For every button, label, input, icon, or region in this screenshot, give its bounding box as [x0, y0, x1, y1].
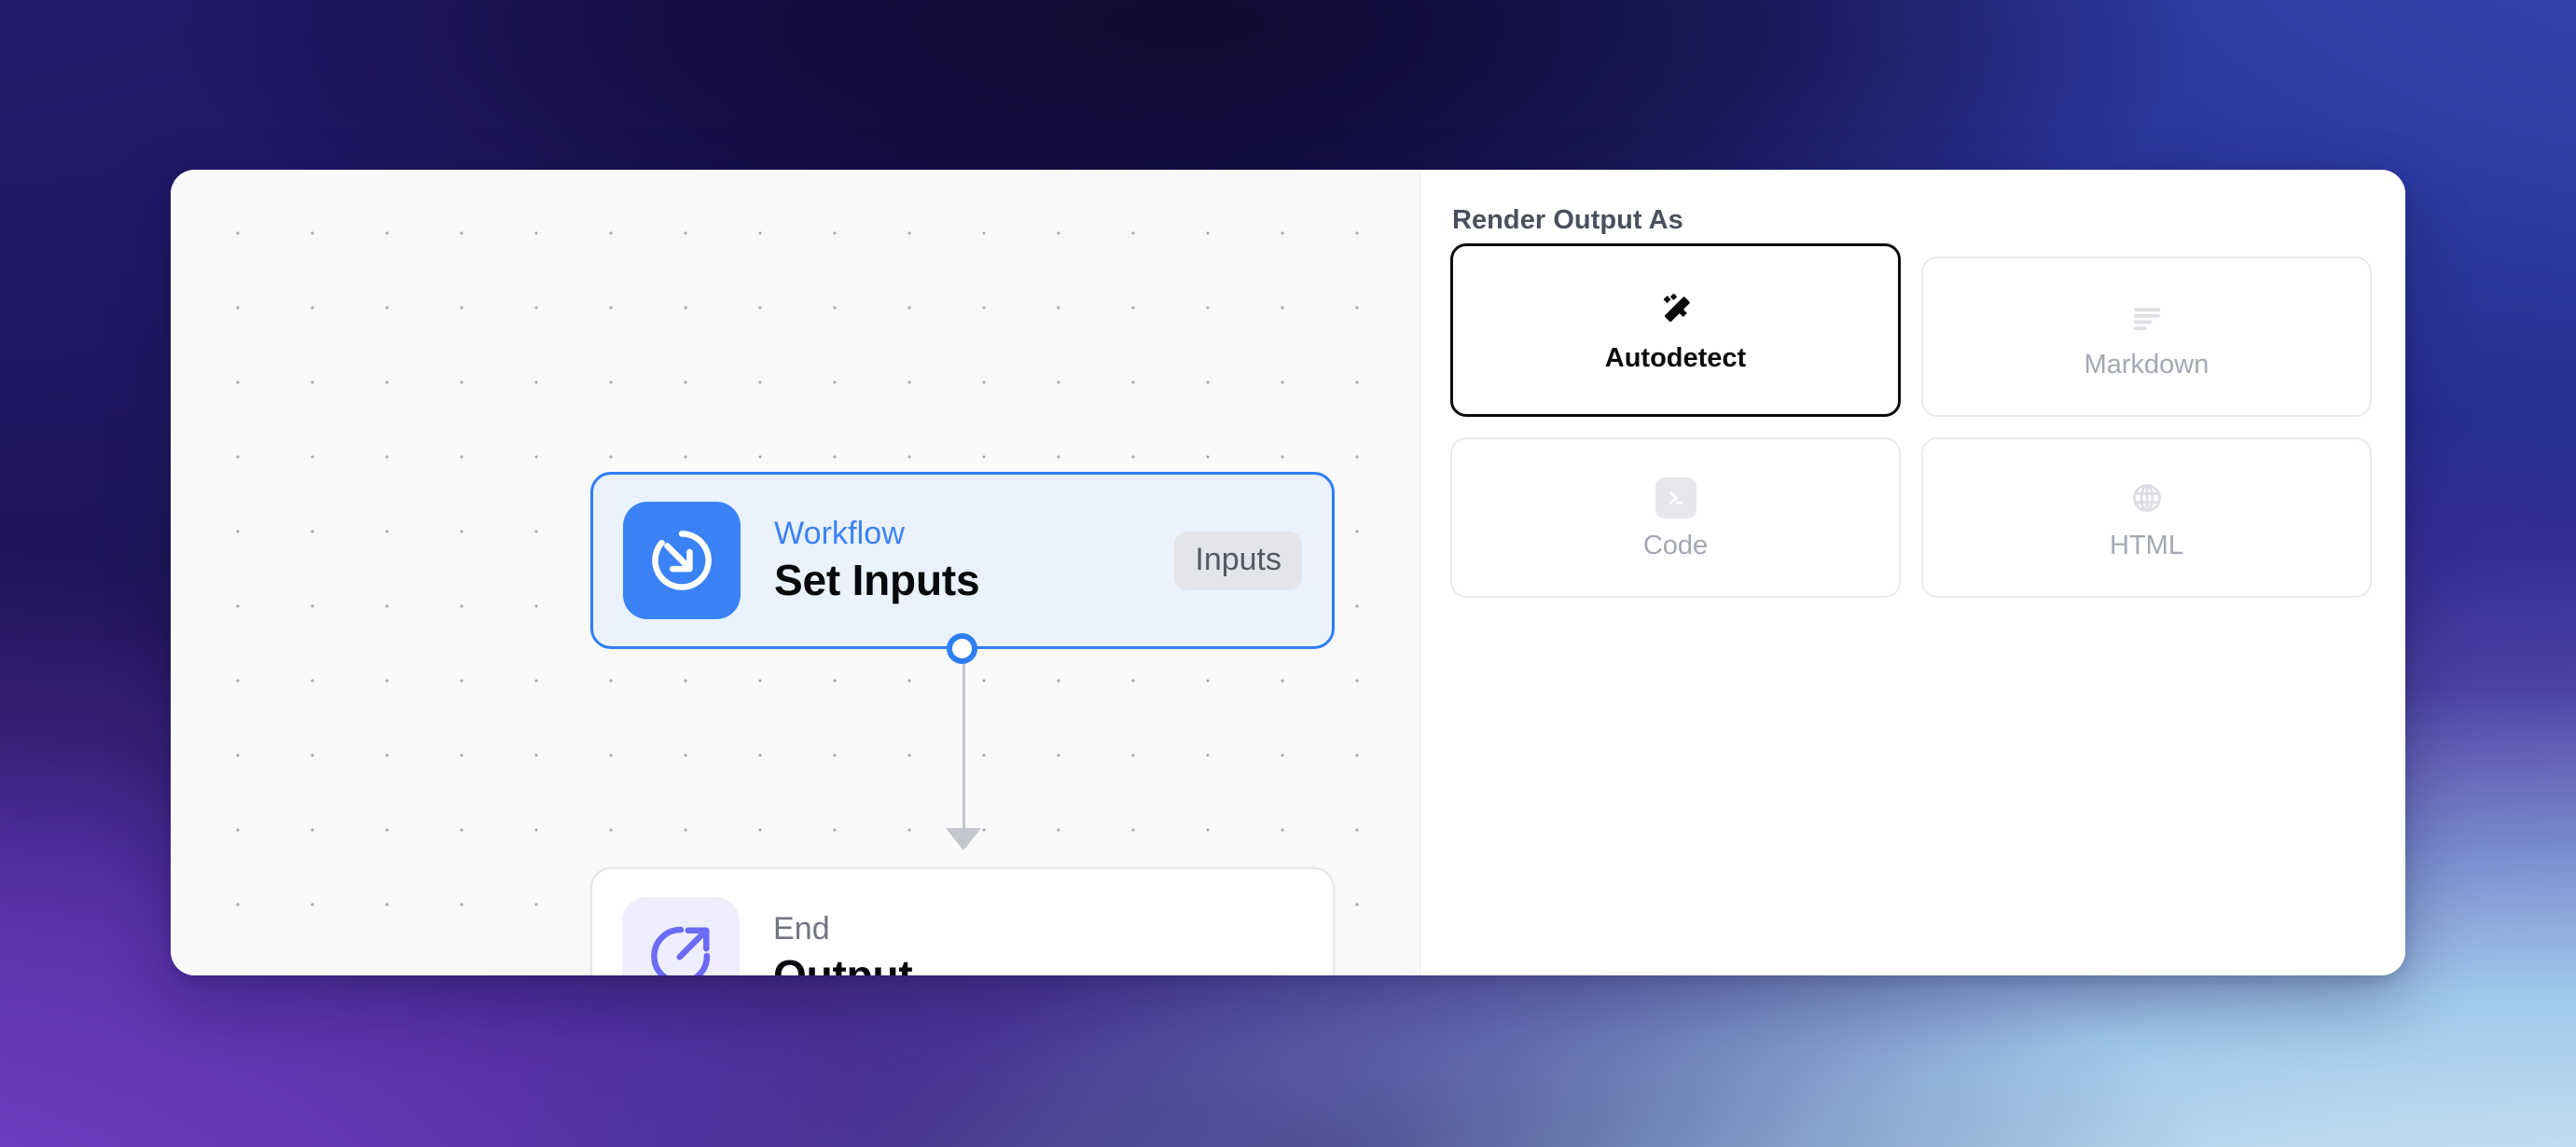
render-option-grid: Autodetect Markdown	[1450, 256, 2372, 598]
output-node-title: Output	[773, 949, 913, 975]
magic-wand-icon	[1656, 289, 1696, 332]
arrow-out-of-circle-icon	[622, 897, 740, 975]
workflow-canvas[interactable]: Workflow Set Inputs Inputs End Output	[171, 170, 1420, 975]
inputs-badge[interactable]: Inputs	[1174, 532, 1302, 590]
workflow-node-text: Workflow Set Inputs	[774, 515, 979, 606]
output-node-text: End Output	[773, 910, 913, 975]
workflow-node-output[interactable]: End Output	[590, 867, 1335, 975]
text-lines-icon	[2127, 296, 2167, 339]
arrow-down-icon	[946, 828, 981, 850]
render-option-markdown[interactable]: Markdown	[1921, 256, 2372, 417]
workflow-node-set-inputs[interactable]: Workflow Set Inputs Inputs	[590, 472, 1335, 649]
panel-title: Render Output As	[1452, 205, 2372, 236]
render-option-label: Autodetect	[1605, 345, 1746, 372]
terminal-prompt-icon	[1655, 477, 1697, 519]
globe-icon	[2128, 477, 2166, 519]
render-option-code[interactable]: Code	[1450, 437, 1901, 598]
workflow-edge-line	[963, 649, 965, 836]
arrow-into-circle-icon	[623, 502, 741, 619]
workflow-node-kind: Workflow	[774, 515, 979, 553]
app-window: Workflow Set Inputs Inputs End Output Re…	[171, 170, 2405, 975]
output-node-kind: End	[773, 910, 913, 948]
render-option-label: Code	[1643, 532, 1708, 560]
render-option-html[interactable]: HTML	[1921, 437, 2372, 598]
render-option-autodetect[interactable]: Autodetect	[1450, 243, 1901, 417]
workflow-node-title: Set Inputs	[774, 554, 979, 606]
render-output-panel: Render Output As Autodetect	[1420, 170, 2405, 975]
connection-handle-icon[interactable]	[947, 633, 977, 664]
render-option-label: HTML	[2110, 532, 2183, 560]
render-option-label: Markdown	[2084, 352, 2209, 379]
